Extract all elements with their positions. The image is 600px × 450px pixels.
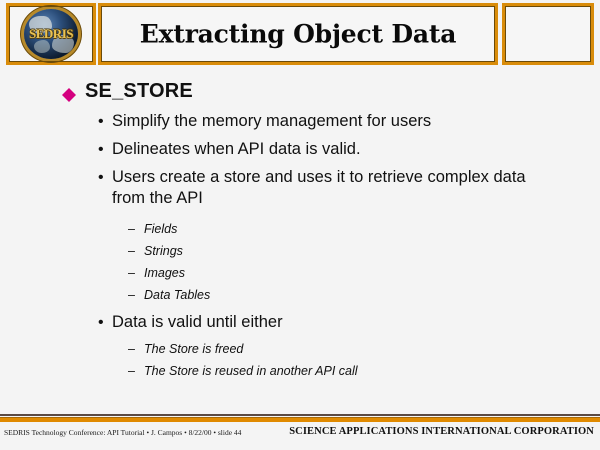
diamond-bullet-icon <box>62 81 76 95</box>
list-item-label: Users create a store and uses it to retr… <box>112 167 528 209</box>
sub-list-item-label: The Store is freed <box>144 340 243 358</box>
en-dash-bullet-icon: – <box>128 286 144 304</box>
list-item-label: Delineates when API data is valid. <box>112 139 361 160</box>
list-item: • Data is valid until either <box>98 312 528 333</box>
logo-box: SEDRIS <box>6 3 96 65</box>
sub-list-item-label: Images <box>144 264 185 282</box>
footer-divider <box>0 414 600 416</box>
round-bullet-icon: • <box>98 139 112 160</box>
sub-list-item-label: Fields <box>144 220 177 238</box>
round-bullet-icon: • <box>98 167 112 188</box>
list-item: • Users create a store and uses it to re… <box>98 167 528 209</box>
sub-list-item-label: The Store is reused in another API call <box>144 362 358 380</box>
header-spare-box <box>502 3 594 65</box>
en-dash-bullet-icon: – <box>128 264 144 282</box>
title-box: Extracting Object Data <box>98 3 498 65</box>
footer-accent-rule <box>0 417 600 422</box>
en-dash-bullet-icon: – <box>128 340 144 358</box>
list-item-label: Data is valid until either <box>112 312 283 333</box>
footer-company-name: SCIENCE APPLICATIONS INTERNATIONAL CORPO… <box>289 426 594 437</box>
round-bullet-icon: • <box>98 111 112 132</box>
sub-list-item: – Strings <box>128 242 600 260</box>
list-item: • Simplify the memory management for use… <box>98 111 528 132</box>
sub-list-item: – The Store is reused in another API cal… <box>128 362 600 380</box>
en-dash-bullet-icon: – <box>128 220 144 238</box>
list-item-label: Simplify the memory management for users <box>112 111 431 132</box>
sub-list-item-label: Data Tables <box>144 286 210 304</box>
sub-list-item: – Data Tables <box>128 286 600 304</box>
sub-list-item: – Fields <box>128 220 600 238</box>
sub-list-item-label: Strings <box>144 242 183 260</box>
sedris-globe-logo-icon: SEDRIS <box>24 9 78 59</box>
slide-body: SE_STORE • Simplify the memory managemen… <box>0 80 600 384</box>
sub-list-item: – The Store is freed <box>128 340 600 358</box>
slide-heading-label: SE_STORE <box>85 80 193 103</box>
footer-attribution: SEDRIS Technology Conference: API Tutori… <box>4 428 241 437</box>
slide-footer: SEDRIS Technology Conference: API Tutori… <box>0 424 600 450</box>
slide-heading: SE_STORE <box>62 80 600 103</box>
round-bullet-icon: • <box>98 312 112 333</box>
logo-wordmark: SEDRIS <box>24 26 78 42</box>
list-item: • Delineates when API data is valid. <box>98 139 528 160</box>
en-dash-bullet-icon: – <box>128 242 144 260</box>
slide-header: SEDRIS Extracting Object Data <box>0 0 600 68</box>
page-title: Extracting Object Data <box>101 20 495 49</box>
sub-list-item: – Images <box>128 264 600 282</box>
en-dash-bullet-icon: – <box>128 362 144 380</box>
